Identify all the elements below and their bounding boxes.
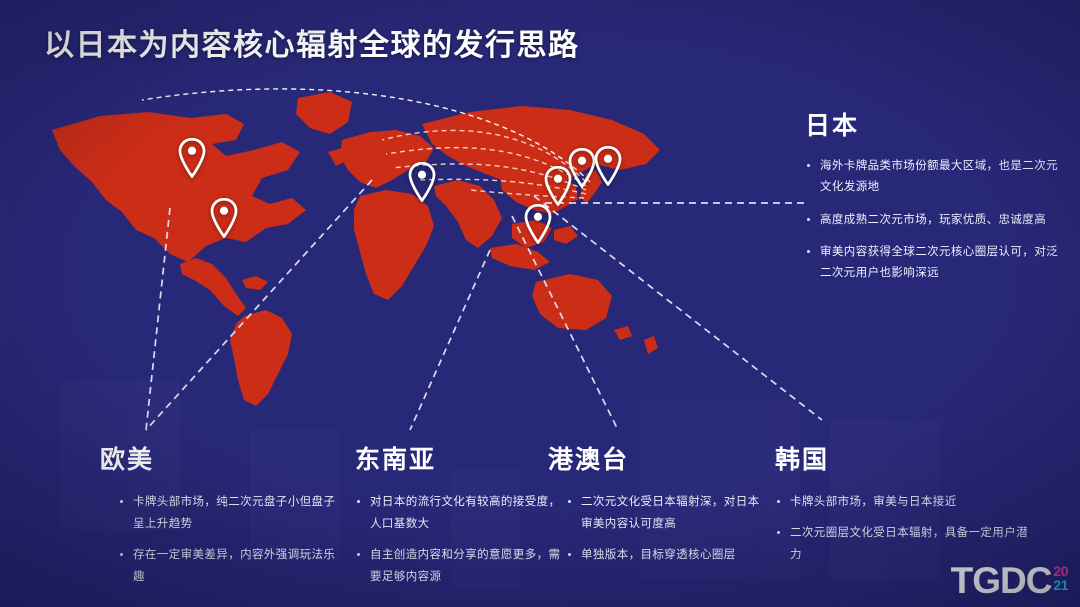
region-bullets-dong-nan-ya: 对日本的流行文化有较高的接受度，人口基数大 自主创造内容和分享的意愿更多，需要足… [355, 492, 565, 588]
tgdc-logo-year-top: 20 [1053, 564, 1068, 578]
list-item: 卡牌头部市场，审美与日本接近 [775, 492, 1030, 514]
region-title-gang-ao-tai: 港澳台 [548, 440, 763, 476]
map-pin-north-america-west[interactable] [177, 138, 207, 178]
list-item: 海外卡牌品类市场份额最大区域，也是二次元文化发源地 [805, 156, 1067, 199]
page-title: 以日本为内容核心辐射全球的发行思路 [44, 20, 580, 64]
region-bullets-gang-ao-tai: 二次元文化受日本辐射深，对日本审美内容认可度高 单独版本，目标穿透核心圈层 [566, 492, 763, 567]
region-block-dong-nan-ya: 东南亚 对日本的流行文化有较高的接受度，人口基数大 自主创造内容和分享的意愿更多… [355, 440, 565, 597]
region-bullets-ou-mei: 卡牌头部市场，纯二次元盘子小但盘子呈上升趋势 存在一定审美差异，内容外强调玩法乐… [118, 492, 340, 588]
region-block-ou-mei: 欧美 卡牌头部市场，纯二次元盘子小但盘子呈上升趋势 存在一定审美差异，内容外强调… [100, 440, 340, 597]
map-pin-japan[interactable] [593, 146, 623, 186]
region-title-ou-mei: 欧美 [100, 440, 340, 476]
region-bullets-han-guo: 卡牌头部市场，审美与日本接近 二次元圈层文化受日本辐射，具备一定用户潜力 [775, 492, 1030, 567]
region-title-japan: 日本 [805, 106, 1067, 142]
map-pin-europe[interactable] [407, 162, 437, 202]
tgdc-logo: TGDC 20 21 [951, 562, 1068, 599]
region-title-dong-nan-ya: 东南亚 [355, 440, 565, 476]
region-block-han-guo: 韩国 卡牌头部市场，审美与日本接近 二次元圈层文化受日本辐射，具备一定用户潜力 [775, 440, 1030, 576]
list-item: 单独版本，目标穿透核心圈层 [566, 545, 763, 567]
list-item: 高度成熟二次元市场，玩家优质、忠诚度高 [805, 210, 1067, 231]
world-map-svg [30, 78, 690, 408]
region-block-japan: 日本 海外卡牌品类市场份额最大区域，也是二次元文化发源地 高度成熟二次元市场，玩… [805, 106, 1067, 295]
list-item: 对日本的流行文化有较高的接受度，人口基数大 [355, 492, 565, 536]
region-title-han-guo: 韩国 [775, 440, 1030, 476]
tgdc-logo-year-bottom: 21 [1053, 578, 1068, 592]
slide-canvas: 以日本为内容核心辐射全球的发行思路 [0, 0, 1080, 607]
tgdc-logo-wordmark: TGDC [951, 562, 1052, 599]
list-item: 自主创造内容和分享的意愿更多，需要足够内容源 [355, 545, 565, 589]
region-columns: 欧美 卡牌头部市场，纯二次元盘子小但盘子呈上升趋势 存在一定审美差异，内容外强调… [0, 440, 1080, 607]
list-item: 存在一定审美差异，内容外强调玩法乐趣 [118, 545, 340, 589]
region-block-gang-ao-tai: 港澳台 二次元文化受日本辐射深，对日本审美内容认可度高 单独版本，目标穿透核心圈… [548, 440, 763, 576]
map-pin-north-america-central[interactable] [209, 198, 239, 238]
list-item: 审美内容获得全球二次元核心圈层认可，对泛二次元用户也影响深远 [805, 242, 1067, 285]
list-item: 二次元文化受日本辐射深，对日本审美内容认可度高 [566, 492, 763, 536]
tgdc-logo-year: 20 21 [1053, 564, 1068, 592]
world-map [30, 78, 690, 408]
region-bullets-japan: 海外卡牌品类市场份额最大区域，也是二次元文化发源地 高度成熟二次元市场，玩家优质… [805, 156, 1067, 284]
list-item: 卡牌头部市场，纯二次元盘子小但盘子呈上升趋势 [118, 492, 340, 536]
map-pin-southeast-asia[interactable] [523, 204, 553, 244]
map-landmasses [52, 92, 660, 406]
